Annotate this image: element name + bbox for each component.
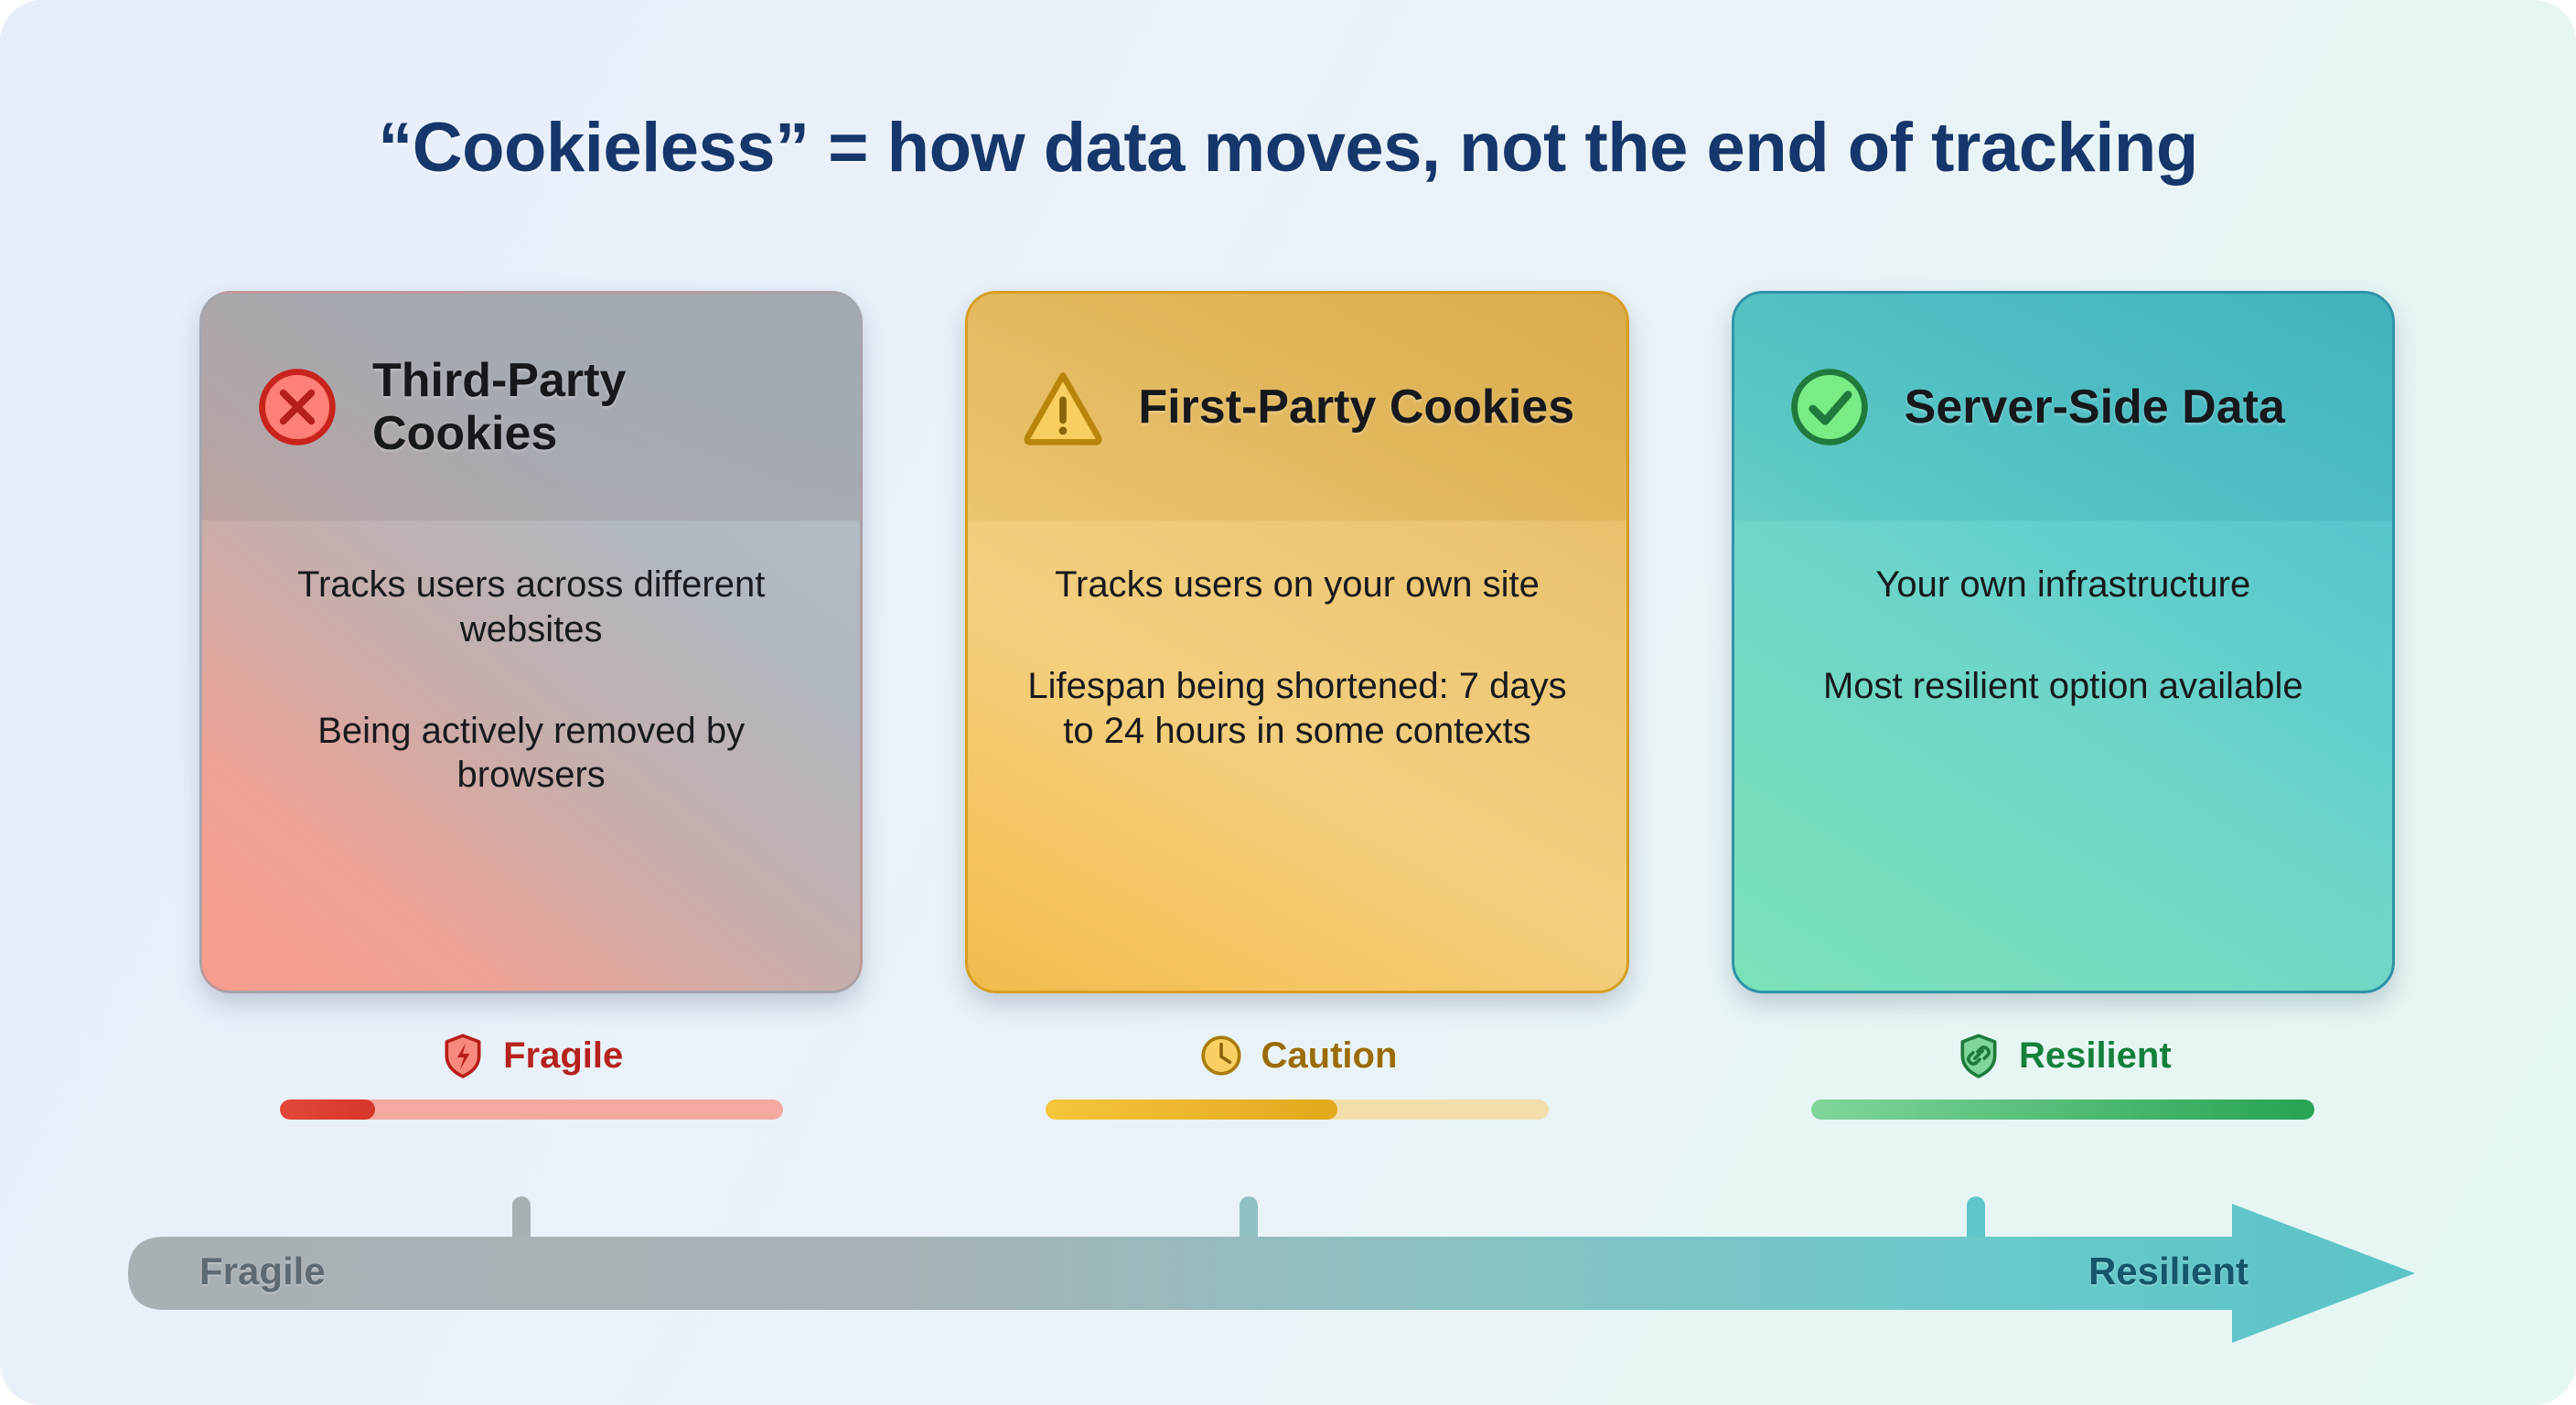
meter-track: [1046, 1099, 1549, 1120]
card-third-party-cookies[interactable]: Third-Party Cookies Tracks users across …: [199, 291, 863, 993]
card-first-party-cookies[interactable]: First-Party Cookies Tracks users on your…: [965, 291, 1628, 993]
card-body: Your own infrastructure Most resilient o…: [1734, 520, 2392, 991]
card-line-1: Your own infrastructure: [1778, 563, 2348, 607]
clock-icon: [1197, 1032, 1245, 1079]
card-line-1: Tracks users on your own site: [1012, 563, 1582, 607]
status-fragile: Fragile: [199, 1032, 863, 1120]
card-header: Server-Side Data: [1734, 294, 2392, 520]
infographic-canvas: “Cookieless” = how data moves, not the e…: [0, 0, 2576, 1405]
card-line-1: Tracks users across different websites: [246, 563, 816, 652]
shield-link-icon: [1955, 1032, 2002, 1079]
status-badge: Fragile: [439, 1032, 623, 1079]
fragility-spectrum-arrow: Fragile Resilient: [128, 1180, 2452, 1345]
broken-shield-icon: [439, 1032, 487, 1079]
card-title: Server-Side Data: [1905, 381, 2285, 434]
spectrum-left-label: Fragile: [199, 1249, 326, 1293]
card-body: Tracks users on your own site Lifespan b…: [968, 520, 1626, 991]
circle-check-icon: [1786, 363, 1873, 451]
card-server-side-data[interactable]: Server-Side Data Your own infrastructure…: [1732, 291, 2395, 993]
meter-fill: [1046, 1099, 1337, 1120]
status-resilient: Resilient: [1732, 1032, 2395, 1120]
status-label-text: Fragile: [503, 1035, 623, 1077]
card-line-2: Most resilient option available: [1778, 664, 2348, 709]
comparison-card-row: Third-Party Cookies Tracks users across …: [199, 291, 2395, 993]
status-badge: Resilient: [1955, 1032, 2172, 1079]
warning-triangle-icon: [1019, 363, 1107, 451]
card-header: Third-Party Cookies: [202, 294, 860, 520]
card-title: First-Party Cookies: [1138, 381, 1574, 434]
status-label-text: Caution: [1261, 1035, 1398, 1077]
meter-fill: [1811, 1099, 2314, 1120]
status-row: Fragile Caution: [199, 1032, 2395, 1120]
card-line-2: Lifespan being shortened: 7 days to 24 h…: [1012, 664, 1582, 754]
spectrum-right-label: Resilient: [2088, 1249, 2249, 1293]
meter-fill: [280, 1099, 376, 1120]
card-title: Third-Party Cookies: [372, 354, 820, 460]
meter-track: [280, 1099, 783, 1120]
status-caution: Caution: [965, 1032, 1628, 1120]
meter-track: [1811, 1099, 2314, 1120]
status-badge: Caution: [1197, 1032, 1398, 1079]
card-header: First-Party Cookies: [968, 294, 1626, 520]
page-title: “Cookieless” = how data moves, not the e…: [0, 108, 2576, 188]
card-line-2: Being actively removed by browsers: [246, 709, 816, 799]
status-label-text: Resilient: [2019, 1035, 2172, 1077]
circle-x-icon: [253, 363, 341, 451]
card-body: Tracks users across different websites B…: [202, 520, 860, 991]
